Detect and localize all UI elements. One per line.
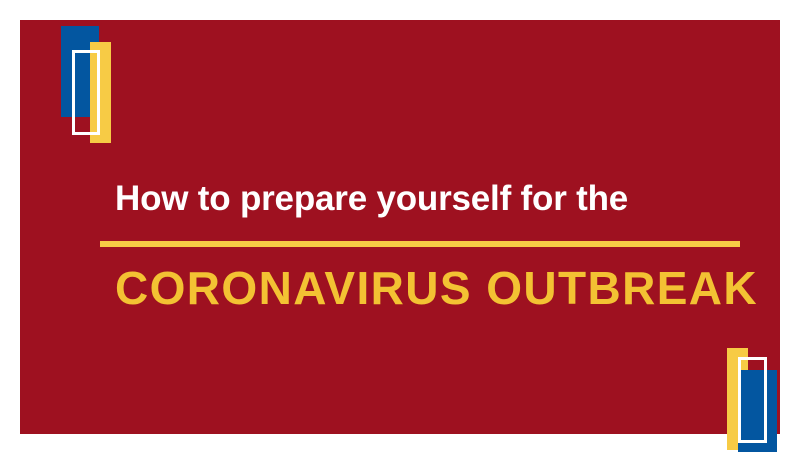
decoration-top-left xyxy=(20,20,160,160)
slide-title: CORONAVIRUS OUTBREAK xyxy=(115,261,741,315)
slide-subtitle: How to prepare yourself for the xyxy=(115,178,741,220)
decoration-white-outline-icon xyxy=(72,50,100,135)
decoration-white-outline-icon xyxy=(738,357,767,443)
decoration-bottom-right xyxy=(710,335,801,452)
title-divider xyxy=(100,241,740,247)
slide-background-panel: How to prepare yourself for the CORONAVI… xyxy=(20,20,780,434)
headline-group: How to prepare yourself for the CORONAVI… xyxy=(100,178,741,315)
slide-canvas: How to prepare yourself for the CORONAVI… xyxy=(0,0,801,452)
